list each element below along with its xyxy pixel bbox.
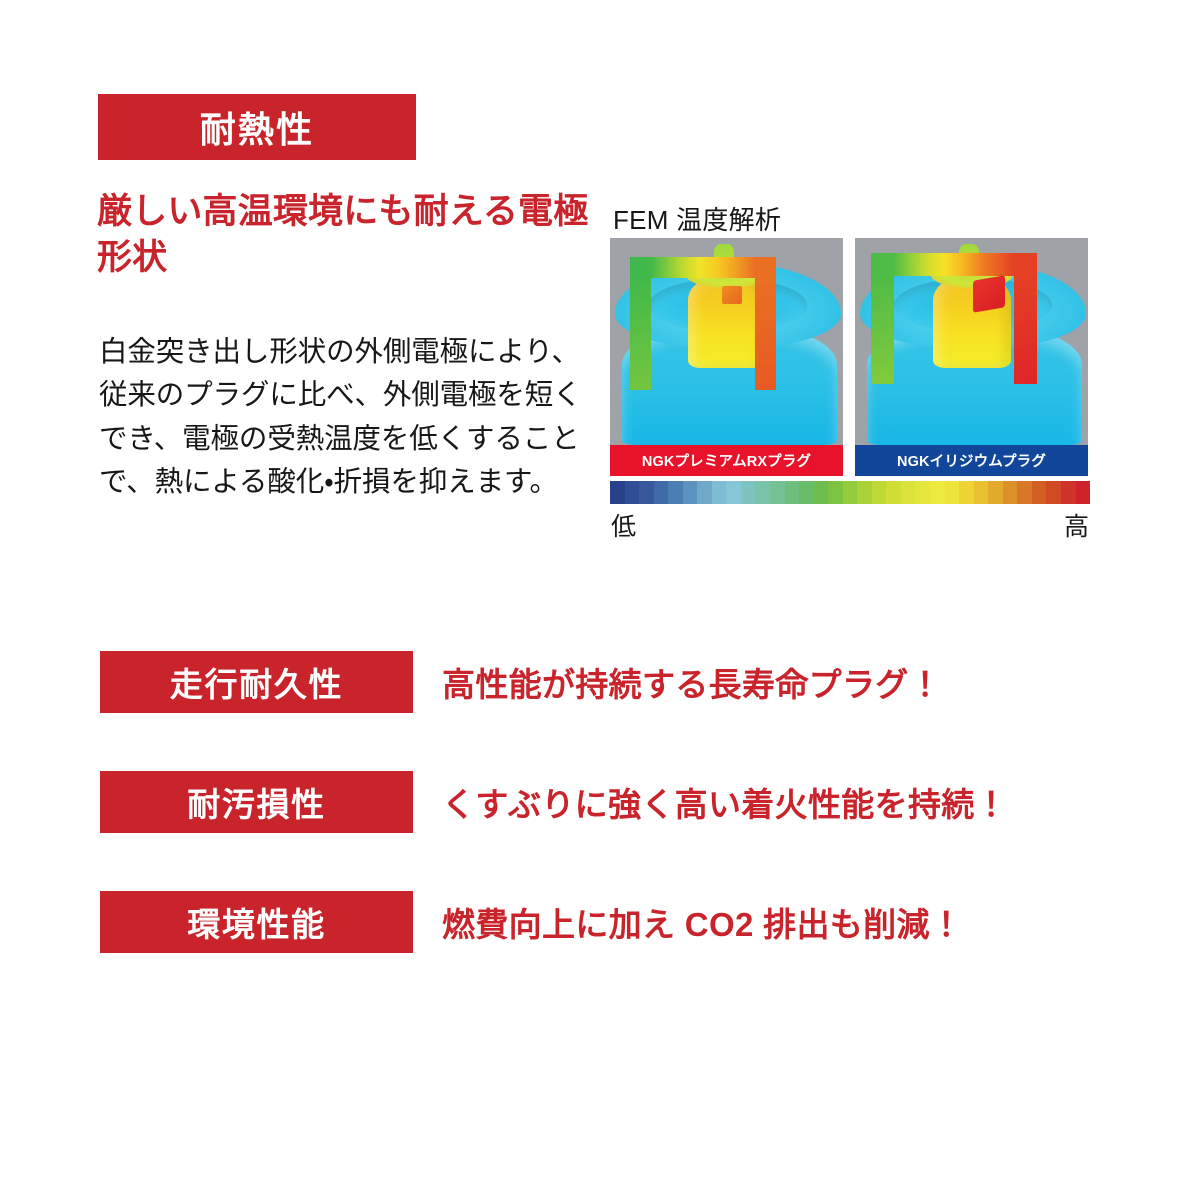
scale-segment-21: [915, 481, 930, 504]
scale-segment-24: [959, 481, 974, 504]
scale-segment-17: [857, 481, 872, 504]
temperature-color-scale-labels: 低 高: [610, 507, 1090, 539]
scale-segment-0: [610, 481, 625, 504]
scale-segment-14: [814, 481, 829, 504]
fem-analysis-figure: FEM 温度解析 NGKプレミアムRXプラグ NGKイリジウムプラグ: [610, 200, 1090, 530]
feature-text: 燃費向上に加え CO2 排出も削減！: [442, 898, 963, 946]
scale-segment-2: [639, 481, 654, 504]
scale-segment-11: [770, 481, 785, 504]
scale-segment-25: [974, 481, 989, 504]
scale-segment-13: [799, 481, 814, 504]
scale-segment-1: [625, 481, 640, 504]
feature-badge-fouling-resistance: 耐汚損性: [100, 771, 413, 833]
scale-segment-5: [683, 481, 698, 504]
temperature-color-scale-bar: [610, 481, 1090, 504]
fem-figure-title: FEM 温度解析: [613, 200, 781, 237]
scale-segment-26: [988, 481, 1003, 504]
scale-segment-30: [1046, 481, 1061, 504]
scale-segment-19: [886, 481, 901, 504]
scale-segment-27: [1003, 481, 1018, 504]
heat-section-body-copy: 白金突き出し形状の外側電極により、従来のプラグに比べ、外側電極を短くでき、電極の…: [99, 331, 591, 504]
feature-row: 走行耐久性 高性能が持続する長寿命プラグ！: [100, 651, 1050, 713]
scale-segment-10: [755, 481, 770, 504]
scale-segment-22: [930, 481, 945, 504]
scale-segment-20: [901, 481, 916, 504]
heat-section-lede: 厳しい高温環境にも耐える電極形状: [97, 189, 617, 281]
scale-segment-6: [697, 481, 712, 504]
scale-segment-7: [712, 481, 727, 504]
scale-label-low: 低: [611, 507, 636, 543]
feature-row: 耐汚損性 くすぶりに強く高い着火性能を持続！: [100, 771, 1050, 833]
scale-segment-15: [828, 481, 843, 504]
section-badge-heat-resistance: 耐熱性: [98, 94, 416, 160]
temperature-color-scale: 低 高: [610, 481, 1090, 539]
scale-segment-32: [1076, 481, 1091, 504]
scale-segment-8: [726, 481, 741, 504]
feature-text: 高性能が持続する長寿命プラグ！: [442, 658, 942, 706]
feature-badge-label: 耐汚損性: [187, 778, 326, 826]
feature-badge-label: 環境性能: [187, 898, 326, 946]
scale-segment-4: [668, 481, 683, 504]
feature-row: 環境性能 燃費向上に加え CO2 排出も削減！: [100, 891, 1050, 953]
plug-electrode-tip-icon: [722, 286, 742, 304]
plug-electrode-tip-icon: [973, 275, 1005, 313]
fem-panel-group: NGKプレミアムRXプラグ NGKイリジウムプラグ: [610, 238, 1088, 476]
section-badge-label: 耐熱性: [200, 101, 314, 153]
feature-text: くすぶりに強く高い着火性能を持続！: [442, 778, 1008, 826]
scale-segment-18: [872, 481, 887, 504]
fem-panel-premium-rx: NGKプレミアムRXプラグ: [610, 238, 843, 476]
feature-badge-label: 走行耐久性: [170, 658, 343, 706]
scale-label-high: 高: [1064, 507, 1089, 543]
feature-badge-environmental: 環境性能: [100, 891, 413, 953]
scale-segment-23: [945, 481, 960, 504]
scale-segment-12: [785, 481, 800, 504]
scale-segment-29: [1032, 481, 1047, 504]
scale-segment-31: [1061, 481, 1076, 504]
scale-segment-16: [843, 481, 858, 504]
feature-badge-durability: 走行耐久性: [100, 651, 413, 713]
scale-segment-3: [654, 481, 669, 504]
scale-segment-9: [741, 481, 756, 504]
fem-panel-iridium: NGKイリジウムプラグ: [855, 238, 1088, 476]
scale-segment-28: [1017, 481, 1032, 504]
fem-panel-caption-premium-rx: NGKプレミアムRXプラグ: [610, 445, 843, 476]
fem-panel-caption-iridium: NGKイリジウムプラグ: [855, 445, 1088, 476]
